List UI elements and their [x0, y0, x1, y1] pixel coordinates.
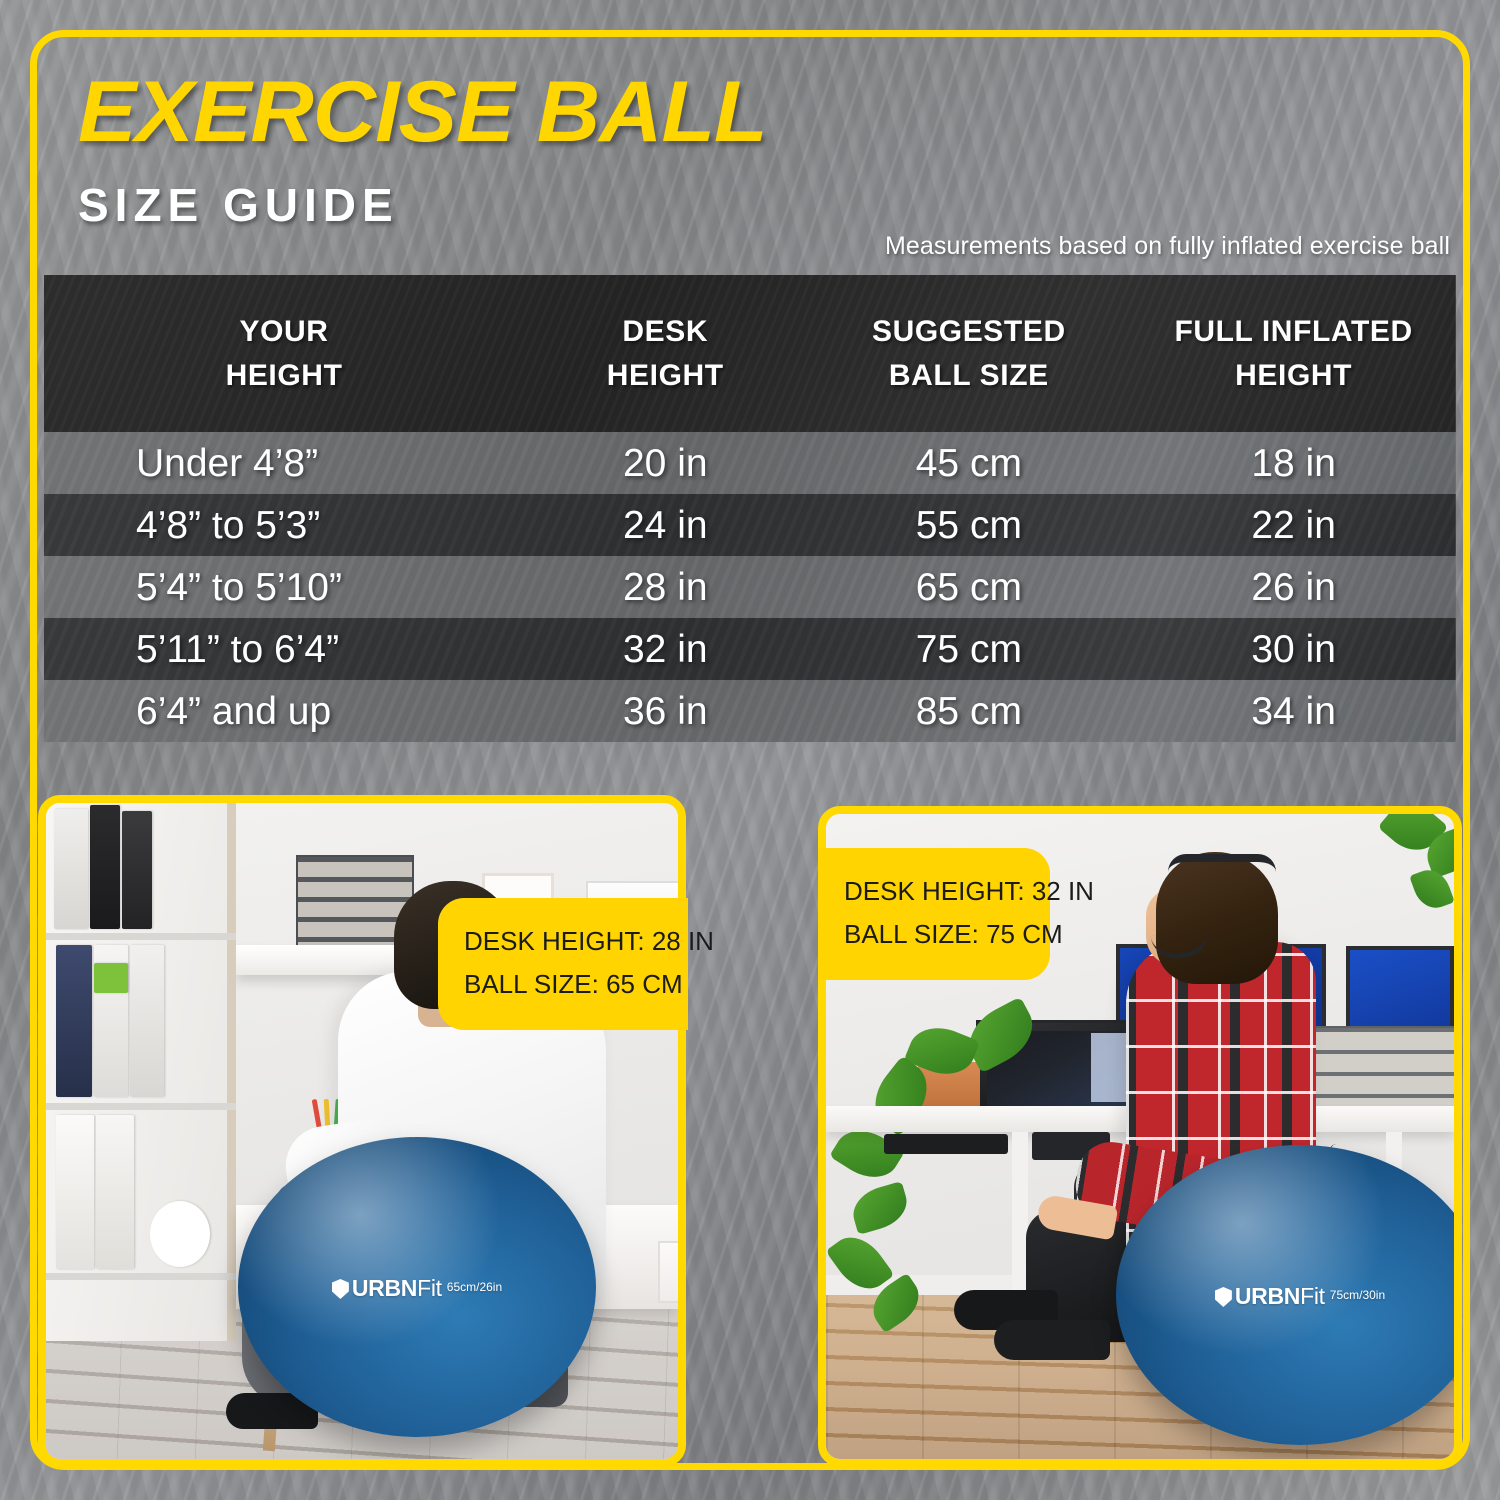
callout-right: DESK HEIGHT: 32 IN BALL SIZE: 75 CM [818, 848, 1050, 980]
person-foot [994, 1320, 1110, 1360]
cell-full-inflated-height: 22 in [1131, 494, 1456, 556]
cell-your-height: 6’4” and up [44, 680, 524, 742]
shield-icon [332, 1279, 349, 1299]
page-title: EXERCISE BALL [78, 72, 767, 154]
table-header-row: YOUR HEIGHT DESK HEIGHT SUGGESTED BALL S… [44, 275, 1456, 432]
shield-icon [1215, 1287, 1232, 1307]
photo-card-left: URBNFit65cm/26in [38, 795, 686, 1467]
table-row: 5’4” to 5’10” 28 in 65 cm 26 in [44, 556, 1456, 618]
cell-ball-size: 55 cm [806, 494, 1131, 556]
callout-left: DESK HEIGHT: 28 IN BALL SIZE: 65 CM [438, 898, 688, 1030]
cell-full-inflated-height: 26 in [1131, 556, 1456, 618]
shelf-divider [46, 933, 236, 940]
column-header-full-inflated-height: FULL INFLATED HEIGHT [1131, 275, 1456, 432]
cell-full-inflated-height: 34 in [1131, 680, 1456, 742]
cell-desk-height: 28 in [524, 556, 806, 618]
cell-ball-size: 75 cm [806, 618, 1131, 680]
shelf-divider [46, 1103, 236, 1110]
column-header-your-height: YOUR HEIGHT [44, 275, 524, 432]
desk-drawer [658, 1241, 678, 1303]
ball-brand-logo: URBNFit75cm/30in [1116, 1283, 1454, 1310]
binder [56, 1115, 94, 1269]
column-header-desk-height: DESK HEIGHT [524, 275, 806, 432]
binder [130, 945, 164, 1097]
table-row: Under 4’8” 20 in 45 cm 18 in [44, 432, 1456, 494]
ball-size-print: 65cm/26in [447, 1280, 502, 1294]
cell-your-height: 5’11” to 6’4” [44, 618, 524, 680]
column-header-suggested-ball-size: SUGGESTED BALL SIZE [806, 275, 1131, 432]
ball-size-print: 75cm/30in [1330, 1288, 1385, 1302]
callout-left-ball-size: BALL SIZE: 65 CM [464, 963, 662, 1006]
cell-desk-height: 24 in [524, 494, 806, 556]
cell-desk-height: 32 in [524, 618, 806, 680]
binder [54, 809, 88, 929]
callout-right-desk-height: DESK HEIGHT: 32 IN [844, 870, 1024, 913]
cell-ball-size: 45 cm [806, 432, 1131, 494]
heading-block: EXERCISE BALL SIZE GUIDE [78, 72, 753, 232]
shelf-divider [46, 1273, 236, 1280]
callout-left-desk-height: DESK HEIGHT: 28 IN [464, 920, 662, 963]
cell-desk-height: 36 in [524, 680, 806, 742]
cell-ball-size: 65 cm [806, 556, 1131, 618]
paper-tray-icon [1306, 1026, 1454, 1118]
headset-icon [1168, 854, 1276, 872]
cell-your-height: 4’8” to 5’3” [44, 494, 524, 556]
binder-label [94, 963, 128, 993]
cell-your-height: Under 4’8” [44, 432, 524, 494]
callout-right-ball-size: BALL SIZE: 75 CM [844, 913, 1024, 956]
size-guide-table: YOUR HEIGHT DESK HEIGHT SUGGESTED BALL S… [44, 275, 1456, 742]
ball-brand-logo: URBNFit65cm/26in [238, 1275, 596, 1302]
power-strip [884, 1134, 1008, 1154]
cell-full-inflated-height: 30 in [1131, 618, 1456, 680]
binder [56, 945, 92, 1097]
measurement-note: Measurements based on fully inflated exe… [885, 232, 1450, 261]
cell-desk-height: 20 in [524, 432, 806, 494]
bookcase [46, 803, 236, 1341]
binder [90, 805, 120, 929]
binder [96, 1115, 134, 1269]
binder [122, 811, 152, 929]
exercise-ball: URBNFit65cm/26in [238, 1137, 596, 1437]
page-subtitle: SIZE GUIDE [78, 178, 753, 232]
table-row: 4’8” to 5’3” 24 in 55 cm 22 in [44, 494, 1456, 556]
table-row: 5’11” to 6’4” 32 in 75 cm 30 in [44, 618, 1456, 680]
cell-full-inflated-height: 18 in [1131, 432, 1456, 494]
table-row: 6’4” and up 36 in 85 cm 34 in [44, 680, 1456, 742]
cell-your-height: 5’4” to 5’10” [44, 556, 524, 618]
flower-decor [150, 1201, 210, 1267]
cell-ball-size: 85 cm [806, 680, 1131, 742]
